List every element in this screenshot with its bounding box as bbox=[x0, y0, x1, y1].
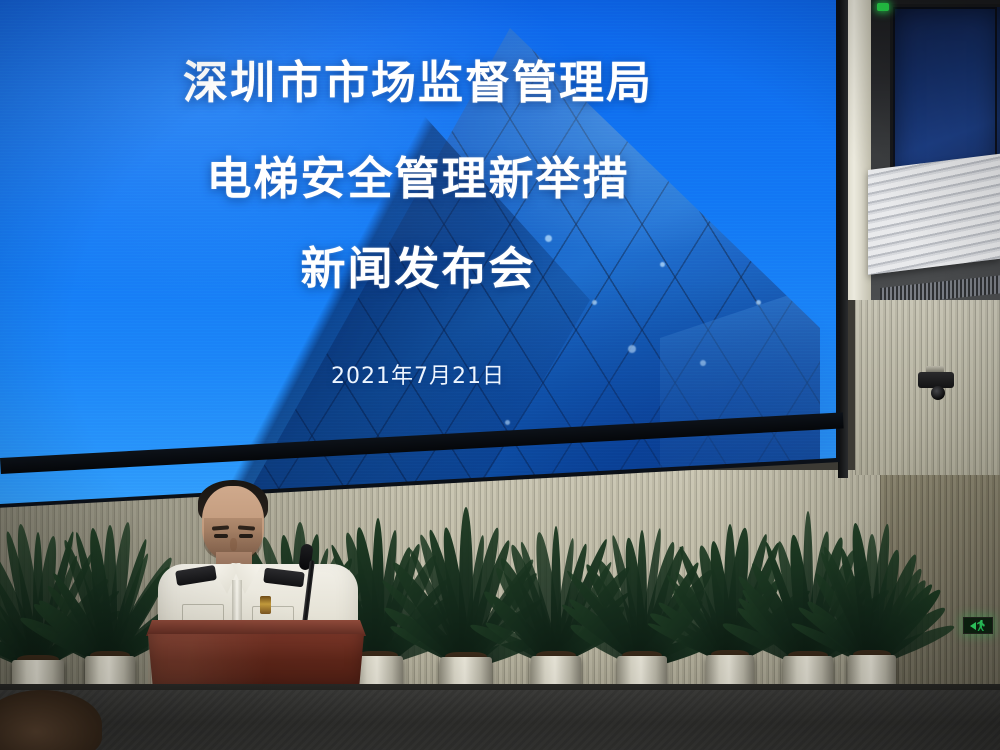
speaker-name-badge bbox=[260, 596, 271, 614]
press-conference-scene: 深圳市市场监督管理局 电梯安全管理新举措 新闻发布会 2021年7月21日 bbox=[0, 0, 1000, 750]
potted-plant bbox=[802, 533, 942, 698]
speaker-nose bbox=[230, 538, 237, 551]
speaker-eye-left bbox=[214, 534, 228, 538]
floor bbox=[0, 690, 1000, 750]
emergency-exit-sign bbox=[963, 617, 993, 634]
exit-arrow-icon bbox=[970, 622, 976, 630]
ceiling-louvers bbox=[868, 154, 1000, 275]
speaker-eye-right bbox=[239, 534, 253, 538]
running-person-icon bbox=[977, 620, 986, 631]
indicator-light-icon bbox=[877, 3, 889, 11]
plant-foliage bbox=[802, 539, 942, 661]
camera-lens-icon bbox=[931, 386, 945, 400]
